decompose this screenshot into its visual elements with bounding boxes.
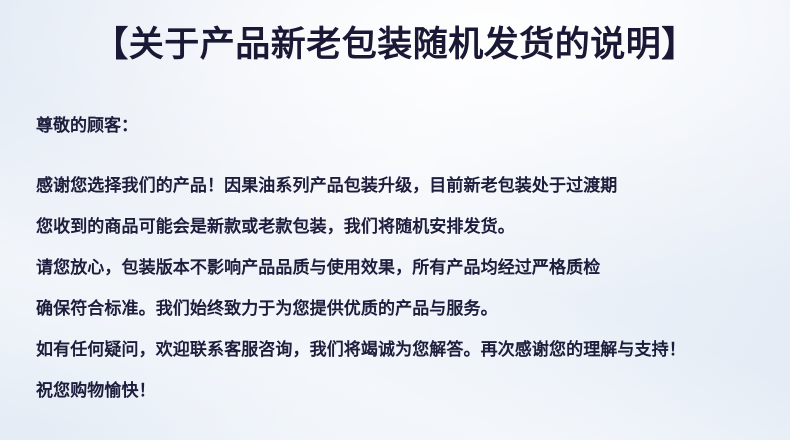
notice-body-line: 如有任何疑问，欢迎联系客服咨询，我们将竭诚为您解答。再次感谢您的理解与支持！ bbox=[36, 329, 778, 370]
notice-body-line: 确保符合标准。我们始终致力于为您提供优质的产品与服务。 bbox=[36, 288, 778, 329]
notice-body-line: 您收到的商品可能会是新款或老款包装，我们将随机安排发货。 bbox=[36, 206, 778, 247]
page-title: 【关于产品新老包装随机发货的说明】 bbox=[0, 22, 790, 68]
notice-body-line: 请您放心，包装版本不影响产品品质与使用效果，所有产品均经过严格质检 bbox=[36, 247, 778, 288]
notice-body: 感谢您选择我们的产品！因果油系列产品包装升级，目前新老包装处于过渡期 您收到的商… bbox=[36, 165, 778, 411]
notice-body-line: 感谢您选择我们的产品！因果油系列产品包装升级，目前新老包装处于过渡期 bbox=[36, 165, 778, 206]
packaging-notice-banner: 【关于产品新老包装随机发货的说明】 尊敬的顾客： 感谢您选择我们的产品！因果油系… bbox=[0, 0, 790, 440]
notice-content: 【关于产品新老包装随机发货的说明】 尊敬的顾客： 感谢您选择我们的产品！因果油系… bbox=[0, 0, 790, 440]
notice-body-line: 祝您购物愉快！ bbox=[36, 370, 778, 411]
salutation-text: 尊敬的顾客： bbox=[36, 113, 138, 139]
